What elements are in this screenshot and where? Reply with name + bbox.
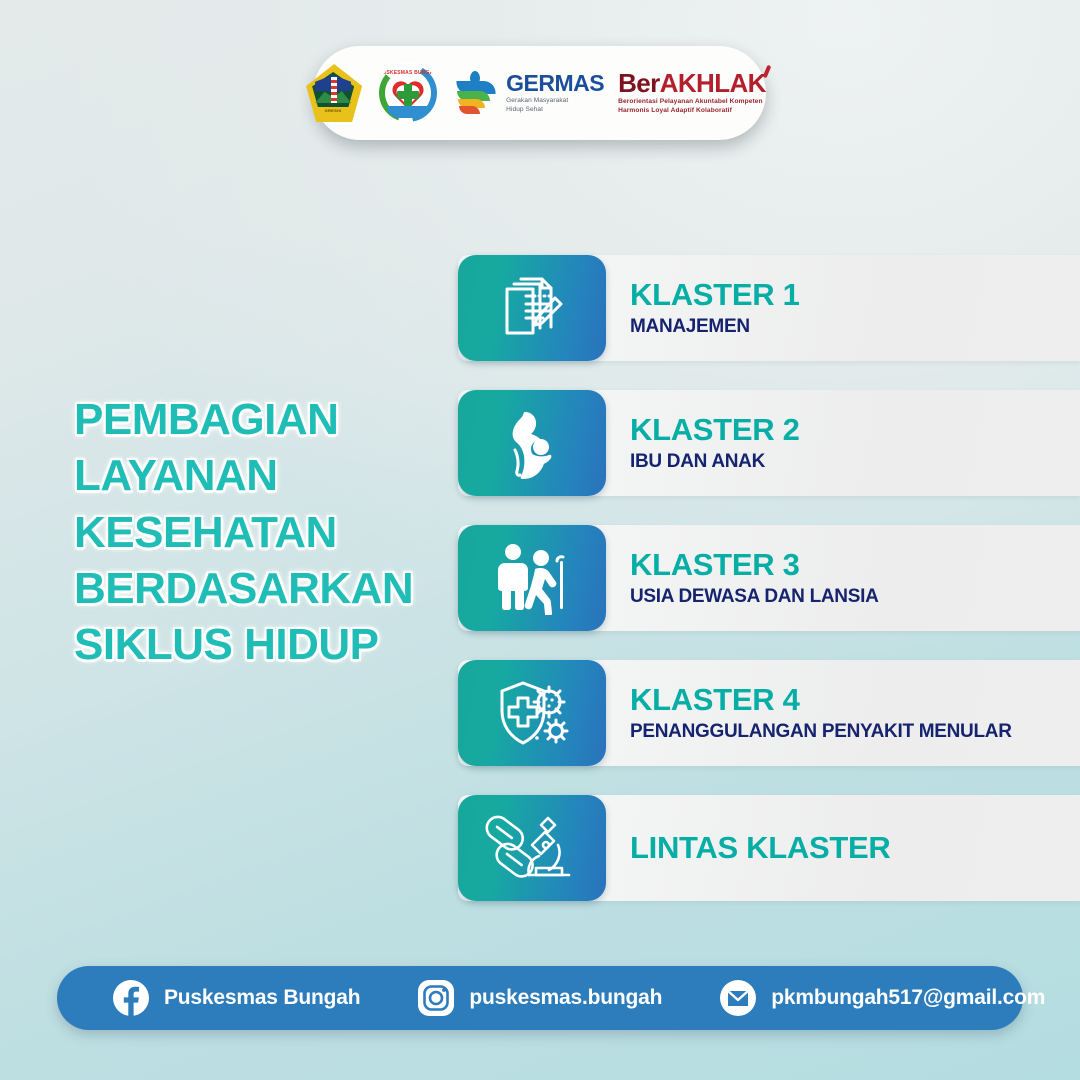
cluster-row-4-text: KLASTER 4 PENANGGULANGAN PENYAKIT MENULA… [606,660,1012,766]
germas-logo: GERMAS Gerakan Masyarakat Hidup Sehat [453,69,604,117]
documents-pencil-icon [458,255,606,361]
puskesmas-bungah-logo: PUSKESMAS BUNGAH [377,62,439,124]
cluster-row-1-text: KLASTER 1 MANAJEMEN [606,255,800,361]
cluster-row-3[interactable]: KLASTER 3 USIA DEWASA DAN LANSIA [458,525,1080,631]
page-title: PEMBAGIAN LAYANAN KESEHATAN BERDASARKAN … [74,392,454,674]
kabupaten-gresik-emblem: GRESIK [305,63,363,123]
berakhlak-check-icon [763,65,776,78]
germas-wordmark: GERMAS [506,72,604,95]
cluster-row-2-text: KLASTER 2 IBU DAN ANAK [606,390,800,496]
berakhlak-tagline-line2: Harmonis Loyal Adaptif Kolaboratif [618,107,766,116]
headline-line-2: LAYANAN [74,448,454,504]
instagram-label: puskesmas.bungah [469,986,662,1010]
gresik-emblem-caption: GRESIK [313,107,353,114]
cluster-row-5-text: LINTAS KLASTER [606,795,890,901]
cluster-subtitle: IBU DAN ANAK [630,452,800,472]
cluster-subtitle: PENANGGULANGAN PENYAKIT MENULAR [630,722,1012,742]
puskesmas-logo-caption: PUSKESMAS BUNGAH [377,70,439,76]
germas-tagline-line2: Hidup Sehat [506,106,604,114]
cluster-row-1[interactable]: KLASTER 1 MANAJEMEN [458,255,1080,361]
cluster-row-4[interactable]: KLASTER 4 PENANGGULANGAN PENYAKIT MENULA… [458,660,1080,766]
berakhlak-logo: BerAKHLAK Berorientasi Pelayanan Akuntab… [618,70,774,115]
berakhlak-tagline-line1: Berorientasi Pelayanan Akuntabel Kompete… [618,98,766,107]
cluster-title: KLASTER 4 [630,684,1012,717]
cluster-subtitle: USIA DEWASA DAN LANSIA [630,587,879,607]
facebook-label: Puskesmas Bungah [164,986,360,1010]
headline-line-4: BERDASARKAN [74,561,454,617]
cluster-title: LINTAS KLASTER [630,832,890,865]
headline-line-5: SIKLUS HIDUP [74,617,454,673]
cluster-row-5[interactable]: LINTAS KLASTER [458,795,1080,901]
instagram-icon[interactable] [417,979,455,1017]
berakhlak-wordmark-suffix: AKHLAK [660,68,766,98]
contact-footer: Puskesmas Bungah puskesmas.bungah [57,966,1023,1030]
germas-tagline-line1: Gerakan Masyarakat [506,97,604,105]
cluster-row-2[interactable]: KLASTER 2 IBU DAN ANAK [458,390,1080,496]
cluster-row-3-text: KLASTER 3 USIA DEWASA DAN LANSIA [606,525,879,631]
instagram-contact[interactable]: puskesmas.bungah [417,979,662,1017]
pills-microscope-icon [458,795,606,901]
cluster-title: KLASTER 3 [630,549,879,582]
adult-and-elderly-icon [458,525,606,631]
mother-and-baby-icon [458,390,606,496]
headline-line-3: KESEHATAN [74,505,454,561]
facebook-contact[interactable]: Puskesmas Bungah [112,979,360,1017]
shield-virus-icon [458,660,606,766]
facebook-icon[interactable] [112,979,150,1017]
cluster-title: KLASTER 2 [630,414,800,447]
email-contact[interactable]: pkmbungah517@gmail.com [719,979,1045,1017]
cluster-subtitle: MANAJEMEN [630,317,800,337]
email-icon[interactable] [719,979,757,1017]
cluster-title: KLASTER 1 [630,279,800,312]
logo-bar: GRESIK PUSKESMAS BUNGAH GERMAS [313,46,766,140]
email-label: pkmbungah517@gmail.com [771,986,1045,1010]
headline-line-1: PEMBAGIAN [74,392,454,448]
berakhlak-wordmark-prefix: Ber [618,68,660,98]
infographic-poster: GRESIK PUSKESMAS BUNGAH GERMAS [0,0,1080,1080]
germas-figure-icon [453,69,499,117]
